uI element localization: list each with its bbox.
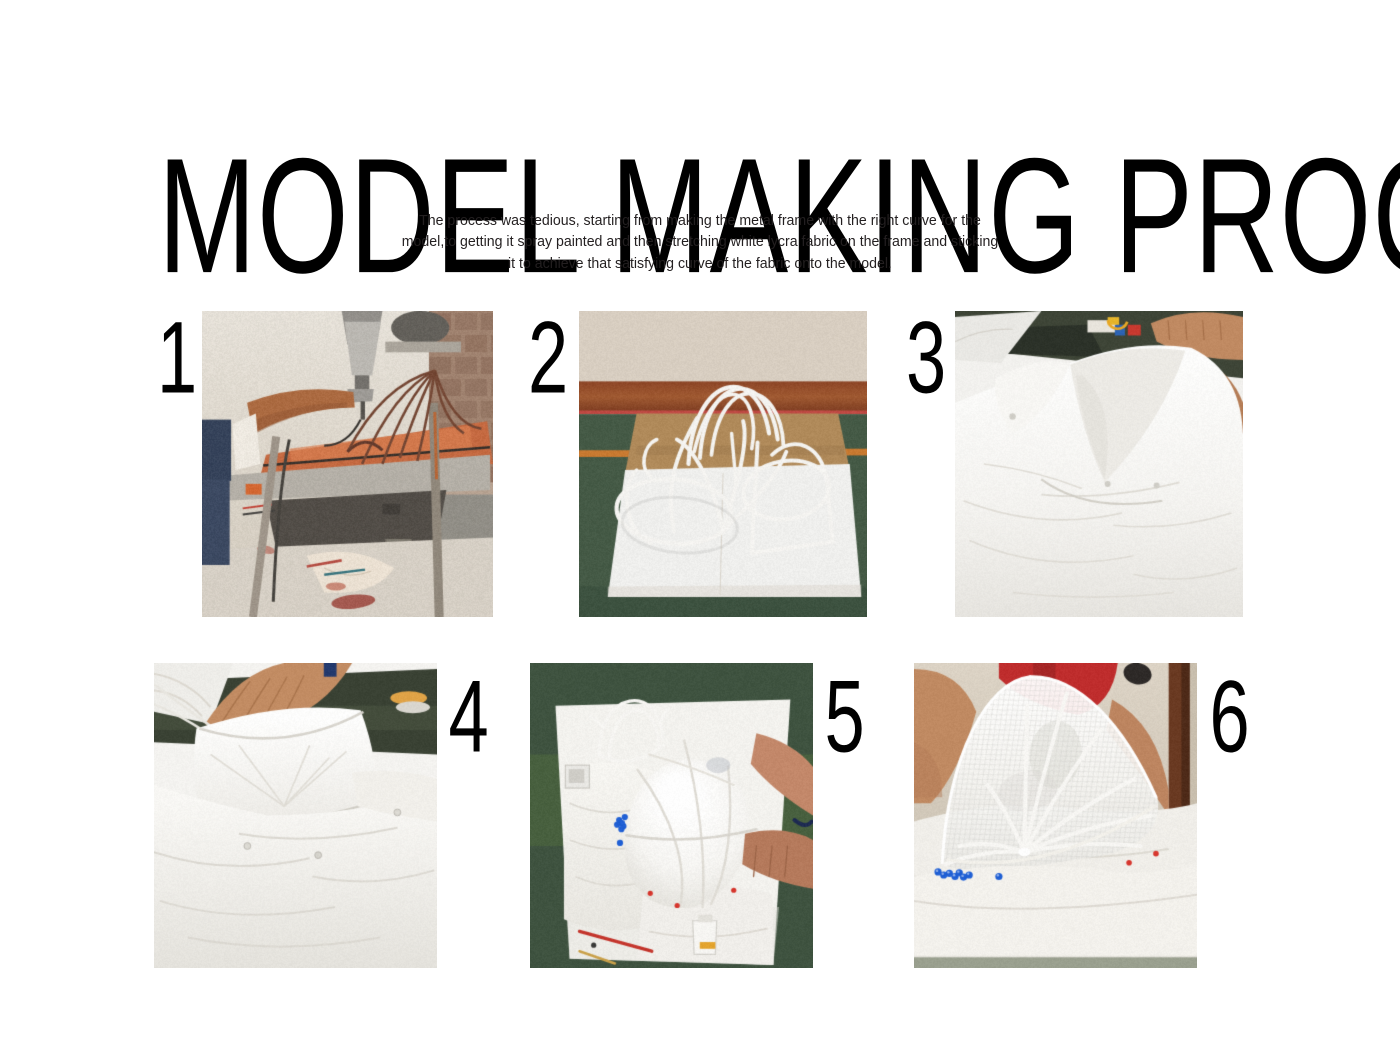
photo-white-painted-wire-frame [579, 311, 867, 617]
photo-stretching-lycra-fabric [955, 311, 1243, 617]
photo-completed-model [914, 663, 1197, 968]
photo-canvas-2 [579, 311, 867, 617]
step-number-2: 2 [528, 306, 568, 408]
photo-pinning-dome-to-base [530, 663, 813, 968]
photo-smoothing-fabric-curve [154, 663, 437, 968]
step-number-1: 1 [157, 306, 197, 408]
step-number-4: 4 [449, 665, 489, 767]
step-number-5: 5 [825, 665, 865, 767]
photo-canvas-1 [202, 311, 493, 617]
photo-canvas-5 [530, 663, 813, 968]
intro-paragraph: The process was tedious, starting from m… [399, 211, 1000, 276]
step-number-6: 6 [1210, 665, 1250, 767]
photo-spray-painting-metal-frame [202, 311, 493, 617]
photo-canvas-4 [154, 663, 437, 968]
photo-canvas-3 [955, 311, 1243, 617]
step-number-3: 3 [906, 306, 946, 408]
photo-canvas-6 [914, 663, 1197, 968]
